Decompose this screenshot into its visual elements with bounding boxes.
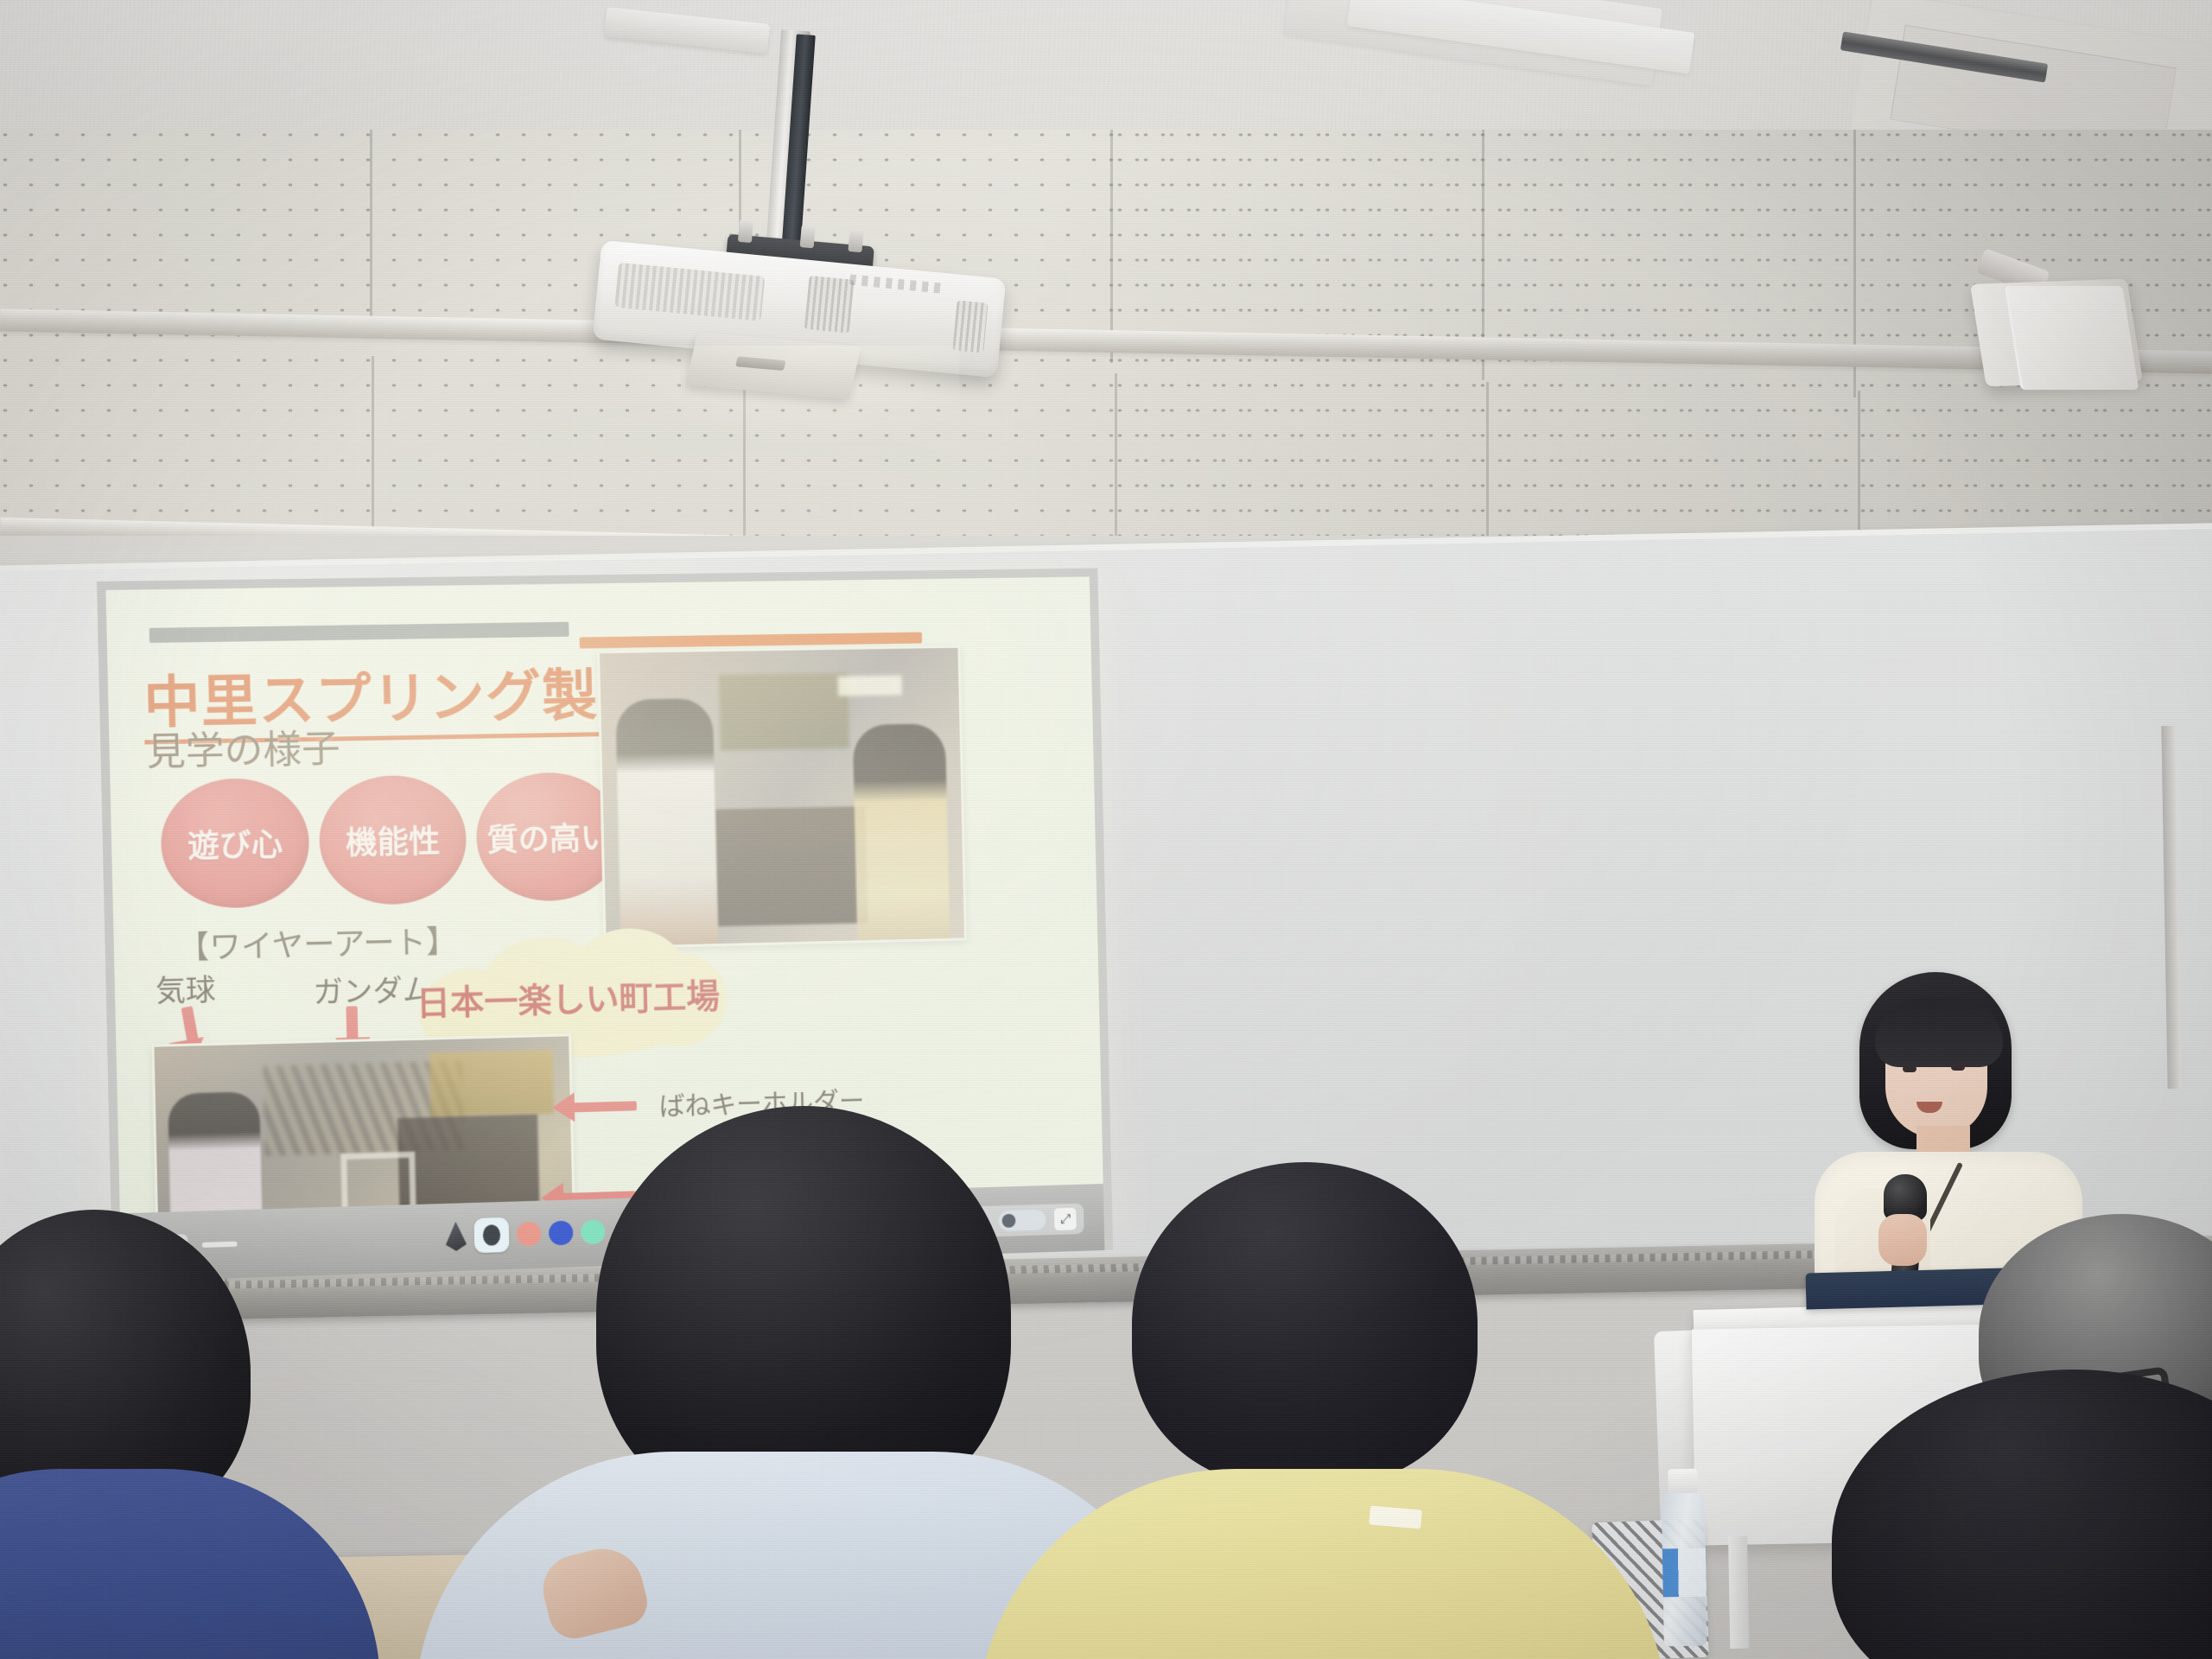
- presenter-hand: [1878, 1214, 1927, 1266]
- presenter-eye-right: [1951, 1064, 1965, 1071]
- factory-visit-photo: [597, 645, 967, 949]
- audience-member-front-left: [0, 1210, 328, 1659]
- projector-brand-label: [849, 274, 945, 293]
- audience-member-front-right: [1832, 1370, 2212, 1659]
- bottle-cap: [1668, 1469, 1698, 1496]
- speaker-grille: [2005, 286, 2139, 390]
- head: [1132, 1162, 1478, 1486]
- audience-member-center-right: [1028, 1162, 1564, 1659]
- projector-vent-rear: [952, 300, 988, 353]
- ink-color-black-button[interactable]: [474, 1217, 509, 1253]
- wall-seam: [372, 356, 374, 546]
- slide-subtitle: 見学の様子: [146, 717, 340, 777]
- slide-accent-bar-gray: [149, 622, 569, 643]
- water-bottle: [1657, 1469, 1711, 1647]
- pen-icon[interactable]: [445, 1221, 467, 1251]
- wall-seam: [1110, 130, 1113, 363]
- projector-vent-side: [804, 276, 855, 334]
- head: [1832, 1370, 2212, 1659]
- classroom-presentation-photo: 中里スプリング製作所 見学の様子 遊び心 機能性 質の高い 【ワイヤーアート】 …: [0, 0, 2212, 1659]
- presenter-eye-left: [1903, 1065, 1916, 1072]
- wall-seam: [370, 130, 372, 328]
- keyword-circle: 機能性: [318, 774, 467, 906]
- shoulders: [0, 1469, 380, 1659]
- keyword-circle: 遊び心: [160, 778, 311, 910]
- keyword-circle-group: 遊び心 機能性 質の高い: [160, 772, 624, 910]
- bottle-label: [1662, 1548, 1707, 1598]
- projector-vent: [614, 263, 765, 321]
- presenter-bangs: [1875, 998, 2003, 1067]
- wire-art-item-label: 気球: [155, 966, 216, 1010]
- wall-seam: [743, 365, 746, 563]
- cloud-callout-text: 日本一楽しい町工場: [403, 969, 732, 1026]
- factory-interior-photo: [151, 1033, 575, 1213]
